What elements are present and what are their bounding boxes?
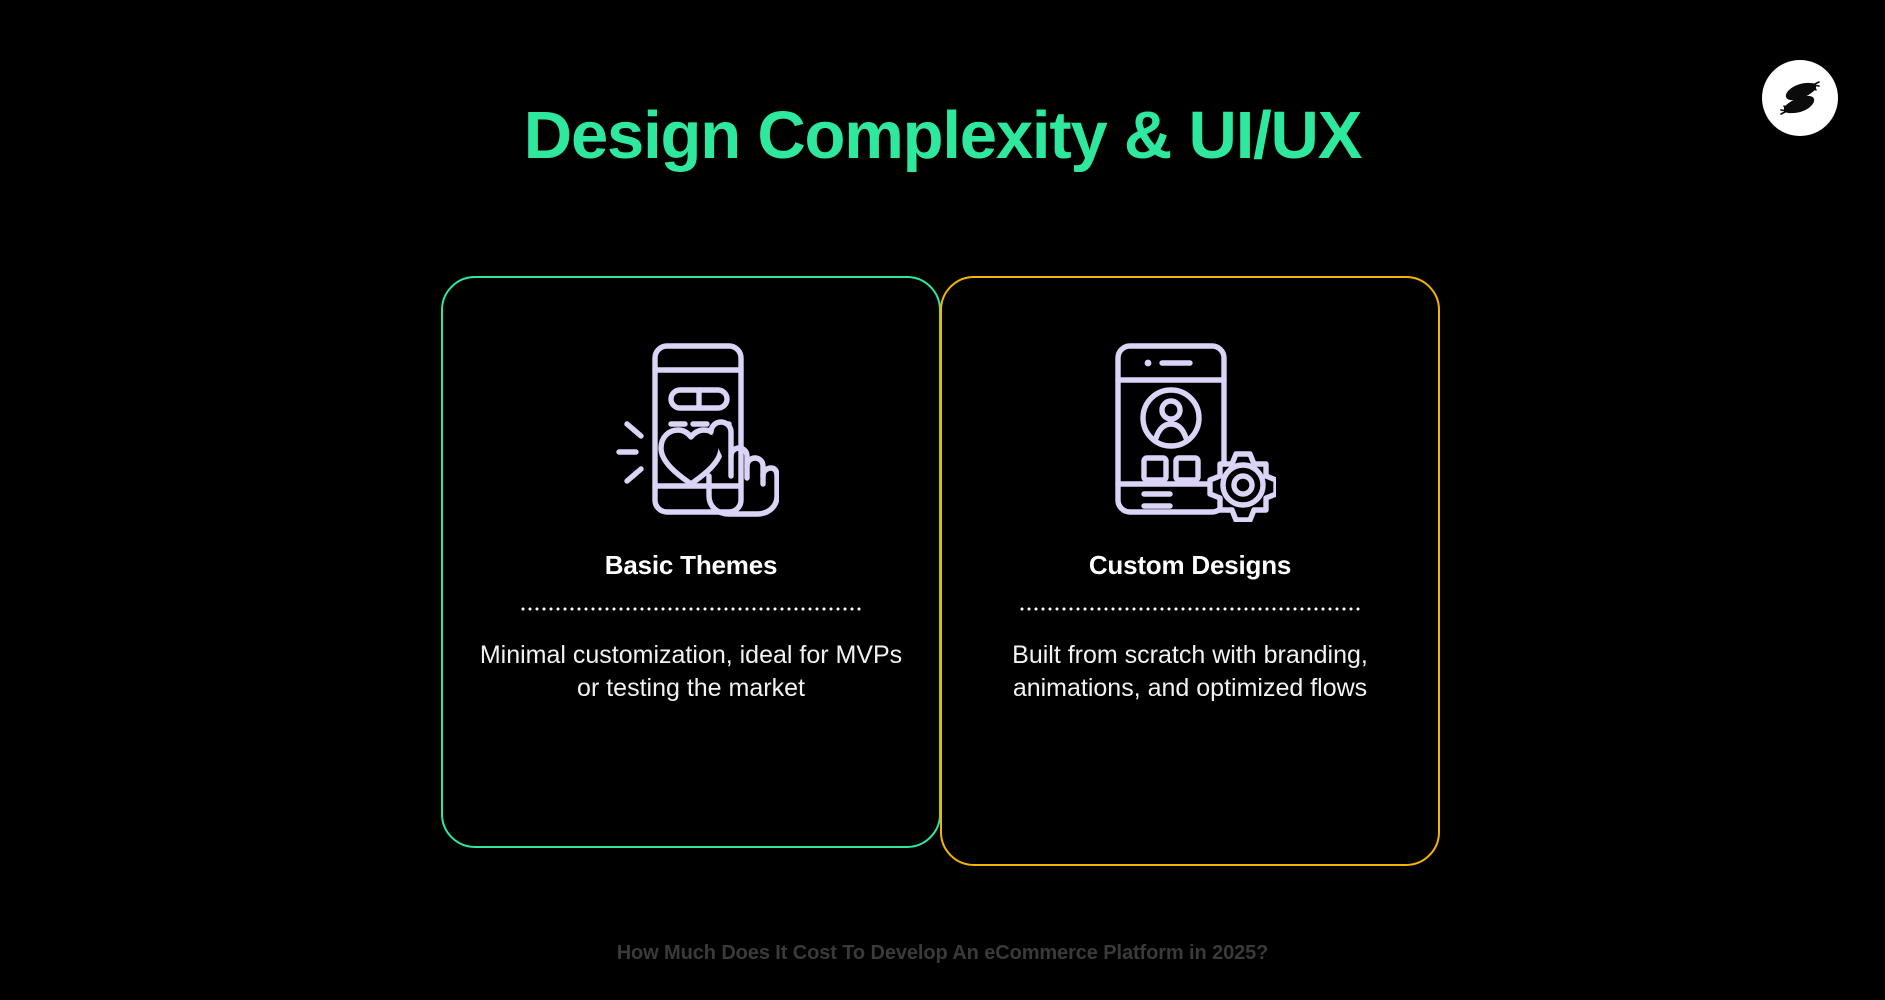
card-divider xyxy=(1019,607,1361,611)
slide-canvas: Design Complexity & UI/UX xyxy=(0,0,1885,1000)
card-title: Basic Themes xyxy=(605,550,777,581)
page-title: Design Complexity & UI/UX xyxy=(0,98,1885,173)
card-body: Minimal customization, ideal for MVPs or… xyxy=(476,639,906,706)
footer-caption: How Much Does It Cost To Develop An eCom… xyxy=(0,942,1885,965)
card-divider xyxy=(520,607,862,611)
card-custom-designs[interactable]: Custom Designs Built from scratch with b… xyxy=(940,276,1440,866)
card-row: Basic Themes Minimal customization, idea… xyxy=(441,276,1447,866)
mobile-profile-gear-icon xyxy=(1104,322,1276,536)
mobile-heart-tap-icon xyxy=(603,322,779,536)
card-title: Custom Designs xyxy=(1089,550,1291,581)
card-basic-themes[interactable]: Basic Themes Minimal customization, idea… xyxy=(441,276,941,848)
card-body: Built from scratch with branding, animat… xyxy=(975,639,1405,706)
